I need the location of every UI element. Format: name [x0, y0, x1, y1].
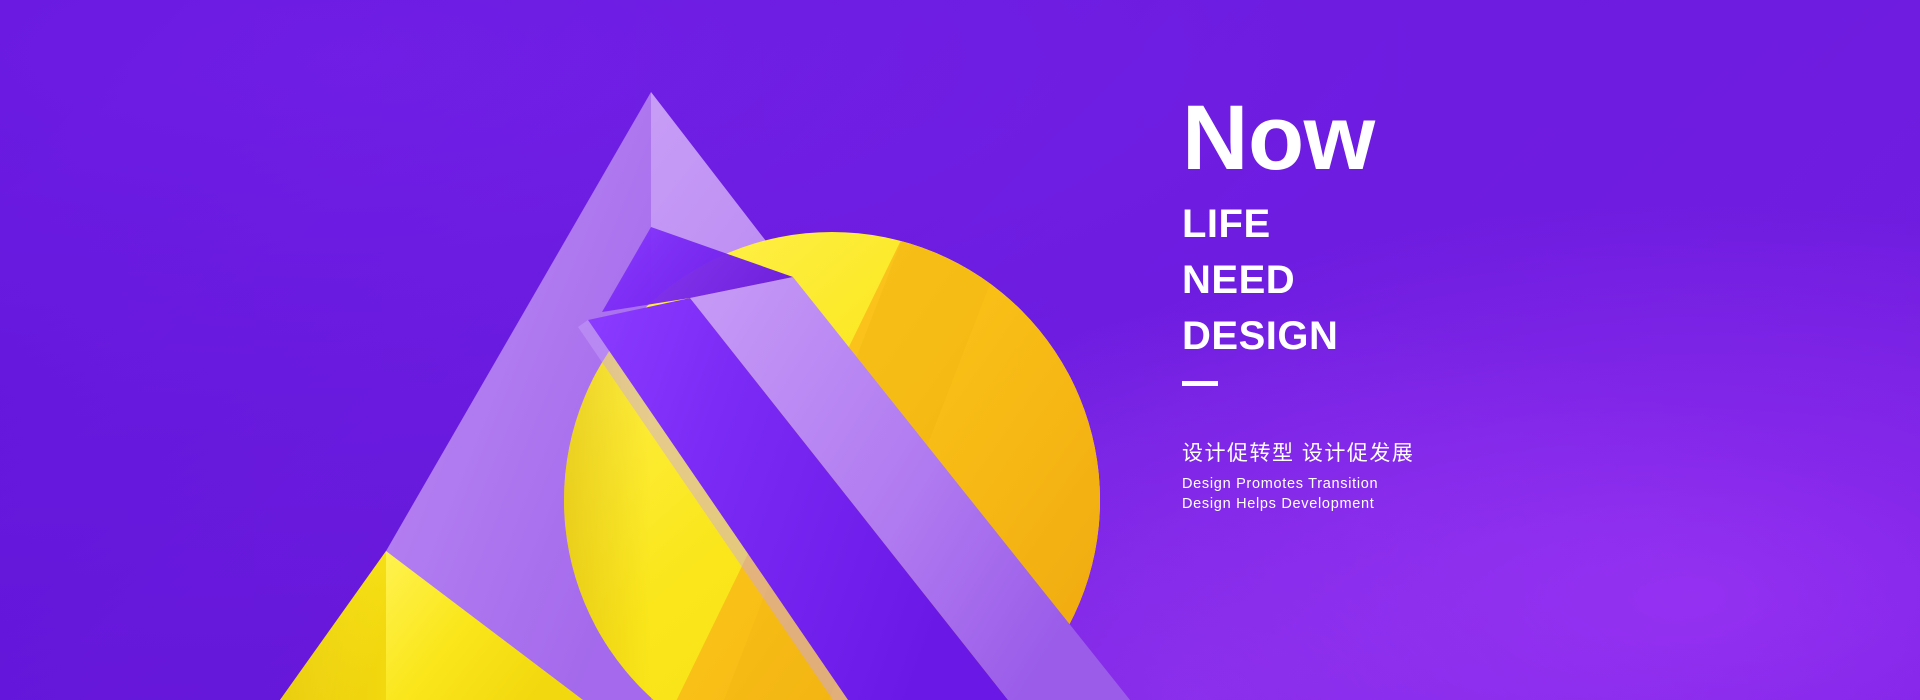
tagline-english-line-2: Design Helps Development [1182, 494, 1602, 514]
headline-block: Now LIFE NEED DESIGN 设计促转型 设计促发展 Design … [1182, 96, 1602, 514]
tagline-chinese: 设计促转型 设计促发展 [1182, 441, 1602, 466]
divider-rule [1182, 381, 1218, 386]
abstract-artwork [0, 0, 1920, 700]
banner-canvas: Now LIFE NEED DESIGN 设计促转型 设计促发展 Design … [0, 0, 1920, 700]
tagline-english-line-1: Design Promotes Transition [1182, 474, 1602, 494]
headline-now: Now [1182, 96, 1602, 181]
headline-line-need: NEED [1182, 259, 1602, 302]
headline-line-design: DESIGN [1182, 315, 1602, 358]
headline-line-life: LIFE [1182, 203, 1602, 246]
